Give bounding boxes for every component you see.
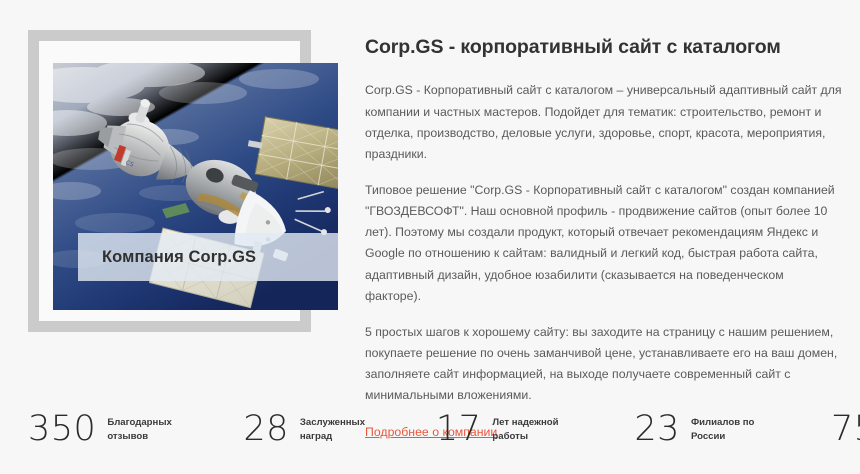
stat-item-reviews: 350 Благодарных отзывов <box>28 412 199 447</box>
stat-number: 17 <box>436 412 482 447</box>
stat-label: Филиалов по России <box>691 416 783 442</box>
hero-section: CS <box>0 0 860 385</box>
company-paragraph: Типовое решение "Corp.GS - Корпоративный… <box>365 165 843 307</box>
stat-number: 350 <box>28 412 96 447</box>
photo-caption-text: Компания Corp.GS <box>78 248 256 267</box>
stat-item-awards: 28 Заслуженных наград <box>243 412 392 447</box>
media-block: CS <box>0 0 348 385</box>
content-column: Corp.GS - корпоративный сайт с каталогом… <box>365 0 843 443</box>
stat-label: Лет надежной работы <box>492 416 584 442</box>
stat-label: Благодарных отзывов <box>107 416 199 442</box>
stat-item-years: 17 Лет надежной работы <box>436 412 585 447</box>
intro-paragraph: Corp.GS - Корпоративный сайт с каталогом… <box>365 59 843 165</box>
stat-number: 75 <box>831 412 860 447</box>
photo-caption-band: Компания Corp.GS <box>78 233 338 281</box>
stat-item-stores: 75 Розничных магазинов <box>831 412 860 447</box>
stat-item-branches: 23 Филиалов по России <box>634 412 783 447</box>
stat-number: 28 <box>243 412 289 447</box>
page-title: Corp.GS - корпоративный сайт с каталогом <box>365 0 843 59</box>
stats-strip: 350 Благодарных отзывов 28 Заслуженных н… <box>0 385 860 474</box>
stat-number: 23 <box>634 412 680 447</box>
stat-label: Заслуженных наград <box>300 416 392 442</box>
